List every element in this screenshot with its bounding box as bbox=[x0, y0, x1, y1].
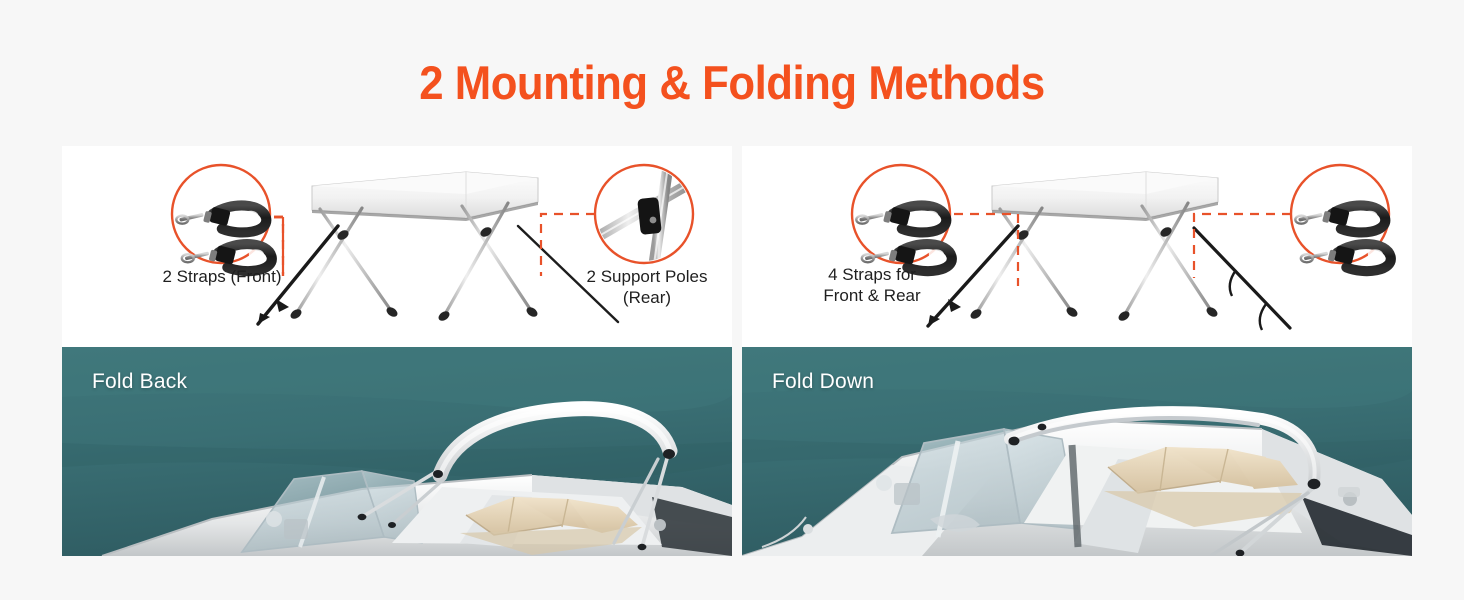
photo-caption-fold-down: Fold Down bbox=[772, 369, 874, 395]
callout-label-left: 4 Straps for Front & Rear bbox=[762, 264, 982, 306]
photo-caption-fold-back: Fold Back bbox=[92, 369, 187, 395]
bimini-diagram-svg-2 bbox=[742, 146, 1412, 347]
bimini-diagram-svg bbox=[62, 146, 732, 347]
methods-panel-group: 2 Straps (Front) 2 Support Poles (Rear) bbox=[62, 146, 1412, 556]
callout-label-left: 2 Straps (Front) bbox=[122, 266, 322, 287]
bimini-canopy-icon bbox=[312, 172, 538, 221]
bimini-front-legs bbox=[976, 208, 1072, 314]
bimini-canopy-icon bbox=[992, 172, 1218, 221]
method-panel-fold-back: 2 Straps (Front) 2 Support Poles (Rear) bbox=[62, 146, 732, 556]
method-panel-fold-down: 4 Straps for Front & Rear bbox=[742, 146, 1412, 556]
diagram-fold-down: 4 Straps for Front & Rear bbox=[742, 146, 1412, 347]
right-dashed-connector bbox=[1194, 214, 1291, 278]
callout-label-right: 2 Support Poles (Rear) bbox=[562, 266, 732, 308]
diagram-fold-back: 2 Straps (Front) 2 Support Poles (Rear) bbox=[62, 146, 732, 347]
page-title: 2 Mounting & Folding Methods bbox=[51, 54, 1413, 112]
rear-strap-line-icon bbox=[1194, 228, 1290, 330]
photo-fold-down: Fold Down bbox=[742, 347, 1412, 556]
photo-fold-back: Fold Back bbox=[62, 347, 732, 556]
